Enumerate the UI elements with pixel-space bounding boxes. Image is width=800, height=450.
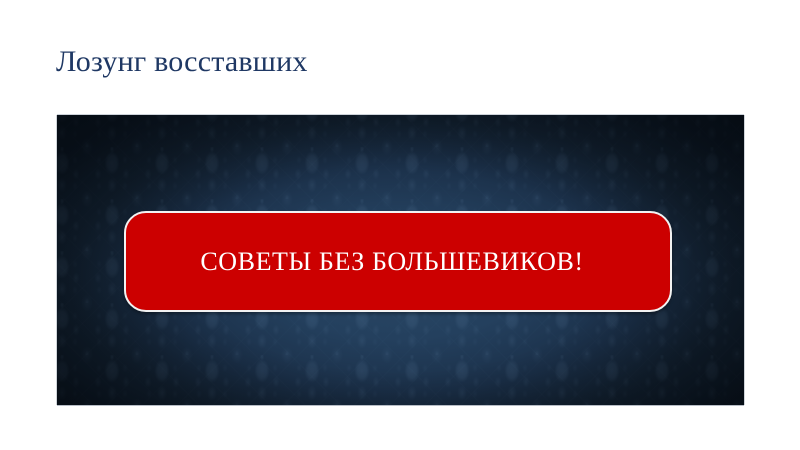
damask-background-panel: СОВЕТЫ БЕЗ БОЛЬШЕВИКОВ! [57, 115, 744, 405]
page-title: Лозунг восставших [56, 44, 308, 80]
slogan-banner: СОВЕТЫ БЕЗ БОЛЬШЕВИКОВ! [124, 211, 672, 312]
slogan-banner-text: СОВЕТЫ БЕЗ БОЛЬШЕВИКОВ! [200, 247, 583, 277]
